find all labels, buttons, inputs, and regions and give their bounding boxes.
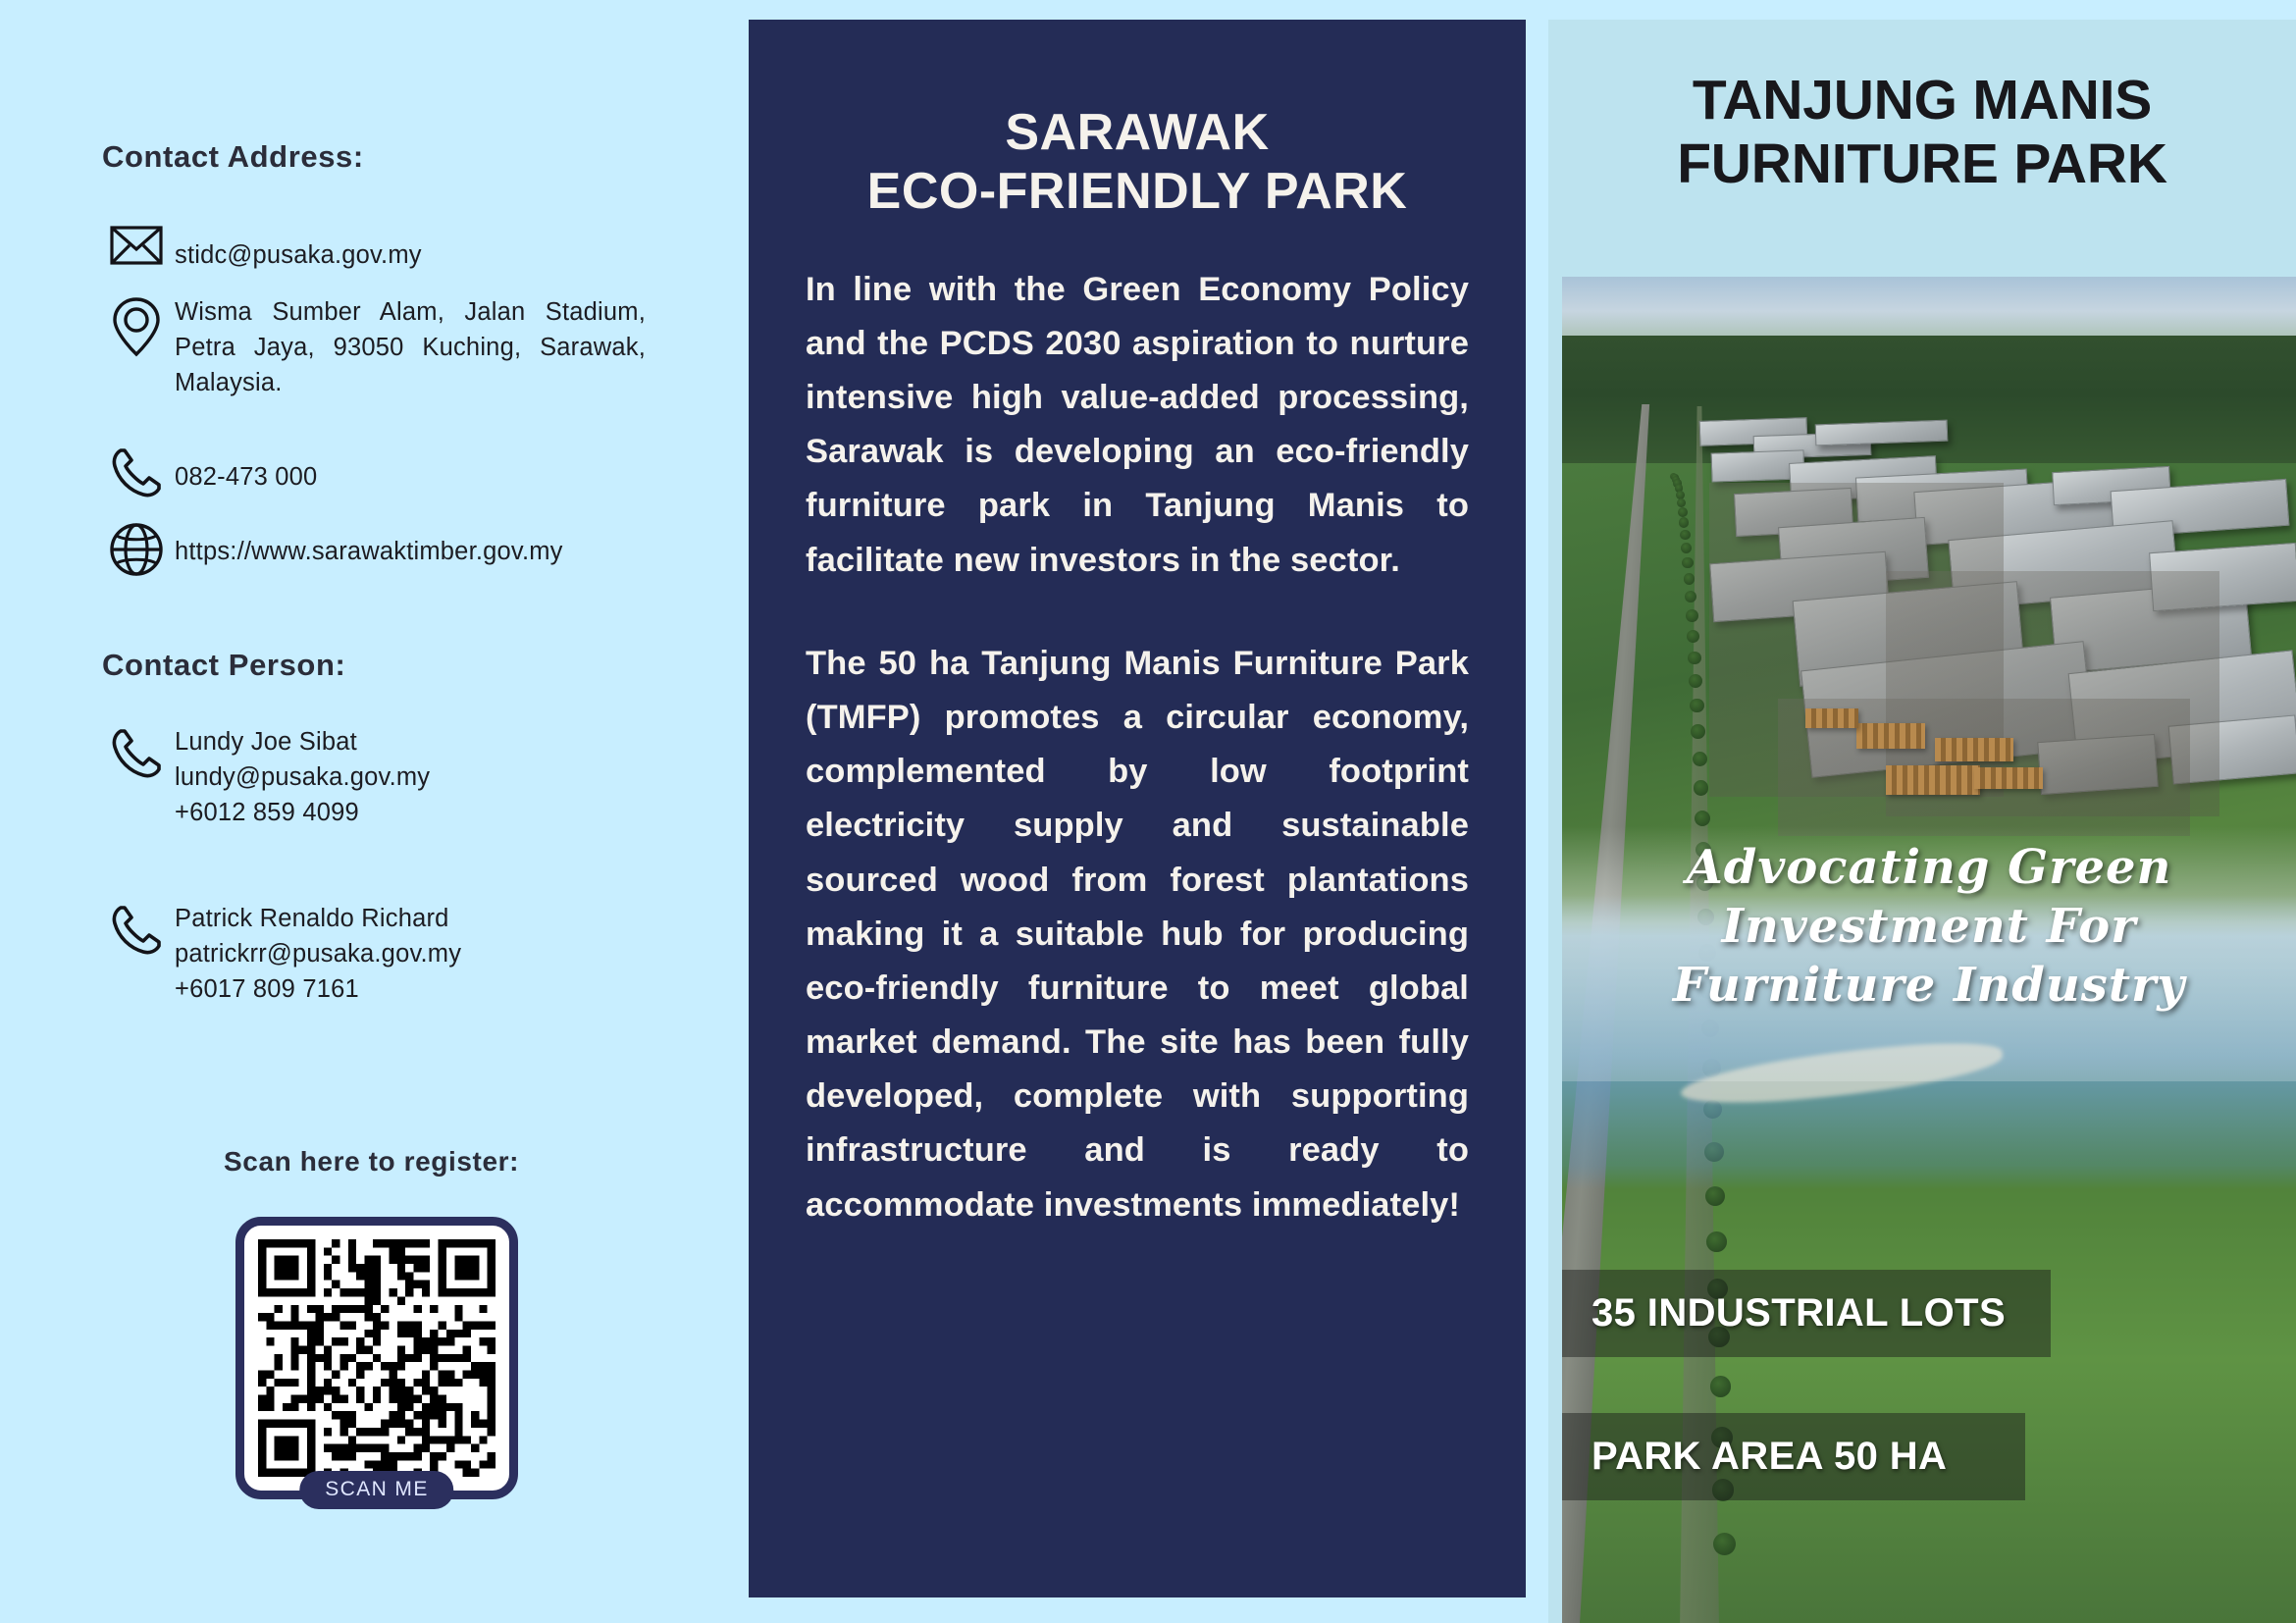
contact-person-2-details: Patrick Renaldo Richard patrickrr@pusaka… — [175, 901, 461, 1008]
cover-title-line-1: TANJUNG MANIS — [1693, 69, 2152, 131]
contact-row-email: stidc@pusaka.gov.my — [98, 224, 422, 273]
contact-person-1-details: Lundy Joe Sibat lundy@pusaka.gov.my +601… — [175, 724, 430, 831]
qr-code-icon[interactable]: SCAN ME — [235, 1217, 518, 1499]
fact-park-area: PARK AREA 50 HA — [1562, 1413, 2025, 1500]
contact-panel: Contact Address: stidc@pusaka.gov.my Wis… — [0, 0, 749, 1623]
globe-icon — [98, 520, 175, 577]
center-panel-title: SARAWAK ECO-FRIENDLY PARK — [806, 103, 1469, 222]
photo-caption-line-2: Furniture Industry — [1673, 958, 2185, 1013]
cover-title-line-2: FURNITURE PARK — [1677, 132, 2167, 195]
scan-register-heading: Scan here to register: — [224, 1146, 519, 1178]
contact-person-heading: Contact Person: — [102, 648, 345, 683]
contact-row-website: https://www.sarawaktimber.gov.my — [98, 520, 563, 577]
phone-icon — [98, 901, 175, 958]
person-name: Patrick Renaldo Richard — [175, 905, 449, 932]
person-phone[interactable]: +6017 809 7161 — [175, 975, 359, 1003]
description-panel: SARAWAK ECO-FRIENDLY PARK In line with t… — [749, 20, 1526, 1597]
contact-address-text: Wisma Sumber Alam, Jalan Stadium, Petra … — [175, 294, 646, 401]
center-paragraph-1: In line with the Green Economy Policy an… — [806, 263, 1469, 588]
phone-icon — [98, 724, 175, 781]
person-email[interactable]: patrickrr@pusaka.gov.my — [175, 940, 461, 968]
scan-me-badge: SCAN ME — [299, 1471, 453, 1509]
brochure-page: Contact Address: stidc@pusaka.gov.my Wis… — [0, 0, 2296, 1623]
aerial-photo-furniture-park: Advocating Green Investment For Furnitur… — [1562, 277, 2296, 1623]
person-email[interactable]: lundy@pusaka.gov.my — [175, 763, 430, 791]
contact-person-2: Patrick Renaldo Richard patrickrr@pusaka… — [98, 901, 461, 1008]
envelope-icon — [98, 224, 175, 265]
contact-row-address: Wisma Sumber Alam, Jalan Stadium, Petra … — [98, 294, 646, 401]
location-pin-icon — [98, 294, 175, 357]
contact-row-phone: 082-473 000 — [98, 444, 317, 500]
fact-industrial-lots: 35 INDUSTRIAL LOTS — [1562, 1270, 2051, 1357]
qr-code-canvas — [258, 1239, 496, 1477]
photo-caption: Advocating Green Investment For Furnitur… — [1562, 838, 2296, 1015]
cover-panel: TANJUNG MANIS FURNITURE PARK Advocating … — [1548, 20, 2296, 1623]
contact-phone-text[interactable]: 082-473 000 — [175, 444, 317, 495]
person-phone[interactable]: +6012 859 4099 — [175, 799, 359, 826]
center-title-line-2: ECO-FRIENDLY PARK — [867, 163, 1408, 220]
contact-website-text[interactable]: https://www.sarawaktimber.gov.my — [175, 520, 563, 569]
center-title-line-1: SARAWAK — [1005, 104, 1269, 161]
contact-email-text[interactable]: stidc@pusaka.gov.my — [175, 224, 422, 273]
center-paragraph-2: The 50 ha Tanjung Manis Furniture Park (… — [806, 637, 1469, 1232]
cover-title: TANJUNG MANIS FURNITURE PARK — [1548, 20, 2296, 196]
photo-caption-line-1: Advocating Green Investment For — [1687, 840, 2172, 954]
person-name: Lundy Joe Sibat — [175, 728, 357, 756]
phone-icon — [98, 444, 175, 500]
contact-address-heading: Contact Address: — [102, 139, 364, 175]
contact-person-1: Lundy Joe Sibat lundy@pusaka.gov.my +601… — [98, 724, 430, 831]
